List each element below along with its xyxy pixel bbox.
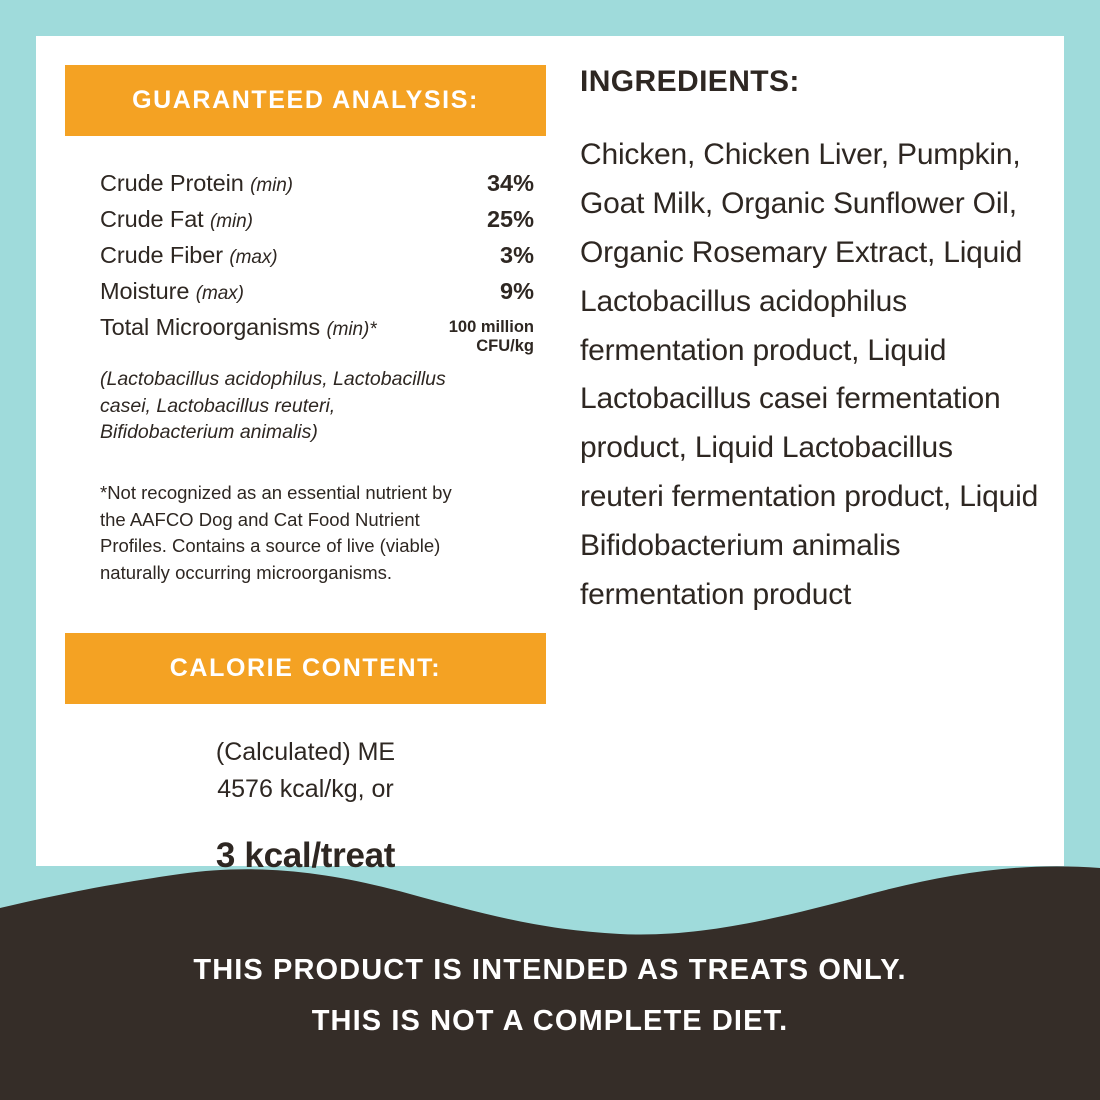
table-row: Crude Fiber (max) 3% [100, 242, 534, 269]
calorie-content-header-bar: CALORIE CONTENT: [65, 633, 546, 704]
ingredients-heading: INGREDIENTS: [580, 65, 1040, 99]
label-card: GUARANTEED ANALYSIS: Crude Protein (min)… [36, 36, 1064, 866]
nutrient-qualifier: (min) [210, 211, 253, 232]
table-row: Crude Protein (min) 34% [100, 170, 534, 197]
nutrient-qualifier: (min) [250, 175, 293, 196]
probiotic-strains-text: (Lactobacillus acidophilus, Lactobacillu… [65, 366, 465, 446]
nutrient-name: Crude Protein (min) [100, 170, 293, 197]
nutrient-qualifier: (max) [229, 247, 277, 268]
calorie-content-header-label: CALORIE CONTENT: [170, 654, 441, 683]
nutrient-name: Moisture (max) [100, 278, 244, 305]
table-row: Crude Fat (min) 25% [100, 206, 534, 233]
footer-line-2: THIS IS NOT A COMPLETE DIET. [0, 996, 1100, 1047]
table-row: Moisture (max) 9% [100, 278, 534, 305]
nutrient-name: Crude Fat (min) [100, 206, 253, 233]
ingredients-text: Chicken, Chicken Liver, Pumpkin, Goat Mi… [580, 131, 1040, 620]
ingredients-column: INGREDIENTS: Chicken, Chicken Liver, Pum… [580, 65, 1040, 620]
nutrient-name: Crude Fiber (max) [100, 242, 277, 269]
table-row-microorganisms: Total Microorganisms (min)* 100 millionC… [100, 314, 534, 356]
nutrient-value: 25% [487, 206, 534, 233]
nutrient-value: 9% [500, 278, 534, 305]
nutrient-name: Total Microorganisms (min)* [100, 314, 377, 341]
guaranteed-analysis-table: Crude Protein (min) 34% Crude Fat (min) … [65, 170, 546, 356]
calorie-line-1: (Calculated) ME [65, 734, 546, 771]
guaranteed-analysis-header-bar: GUARANTEED ANALYSIS: [65, 65, 546, 136]
nutrient-value: 100 millionCFU/kg [449, 314, 534, 356]
nutrient-value: 34% [487, 170, 534, 197]
nutrient-qualifier: (max) [196, 283, 244, 304]
nutrient-qualifier: (min)* [326, 319, 376, 340]
footer-disclaimer: THIS PRODUCT IS INTENDED AS TREATS ONLY.… [0, 945, 1100, 1047]
calorie-line-2: 4576 kcal/kg, or [65, 771, 546, 808]
nutrient-value: 3% [500, 242, 534, 269]
product-label-page: { "theme": { "teal_border": "#9FDBDB", "… [0, 0, 1100, 1100]
guaranteed-analysis-column: GUARANTEED ANALYSIS: Crude Protein (min)… [65, 65, 546, 876]
footer-line-1: THIS PRODUCT IS INTENDED AS TREATS ONLY. [0, 945, 1100, 996]
guaranteed-analysis-header-label: GUARANTEED ANALYSIS: [132, 86, 479, 115]
calorie-content-section: CALORIE CONTENT: (Calculated) ME 4576 kc… [65, 633, 546, 876]
aafco-footnote: *Not recognized as an essential nutrient… [65, 480, 485, 587]
